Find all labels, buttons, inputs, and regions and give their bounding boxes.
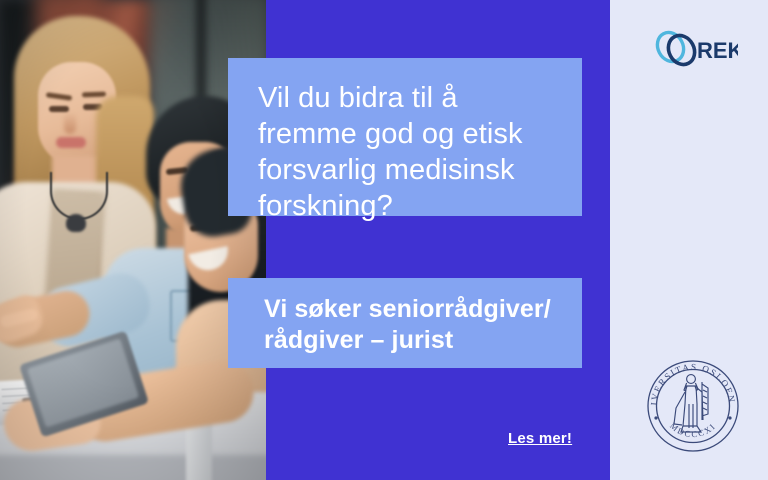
photo-vignette <box>0 0 266 480</box>
rek-wordmark: REK <box>697 38 738 63</box>
job-title-card: Vi søker seniorrådgiver/ rådgiver – juri… <box>228 278 582 368</box>
job-title-text: Vi søker seniorrådgiver/ rådgiver – juri… <box>264 294 562 356</box>
headline-text: Vil du bidra til å fremme god og etisk f… <box>258 80 556 224</box>
seal-top-text: UNIVERSITAS OSLOENSIS <box>645 358 737 406</box>
university-seal-icon: UNIVERSITAS OSLOENSIS MDCCCXI <box>645 358 741 454</box>
recruitment-banner: Vil du bidra til å fremme god og etisk f… <box>0 0 768 480</box>
read-more-link[interactable]: Les mer! <box>508 430 572 447</box>
seal-figure <box>674 375 708 432</box>
uio-seal: UNIVERSITAS OSLOENSIS MDCCCXI <box>645 358 741 454</box>
interlocking-rings-icon: REK <box>650 27 738 71</box>
headline-card: Vil du bidra til å fremme god og etisk f… <box>228 58 582 216</box>
rek-logo[interactable]: REK <box>650 27 738 71</box>
office-team-photo <box>0 0 266 480</box>
